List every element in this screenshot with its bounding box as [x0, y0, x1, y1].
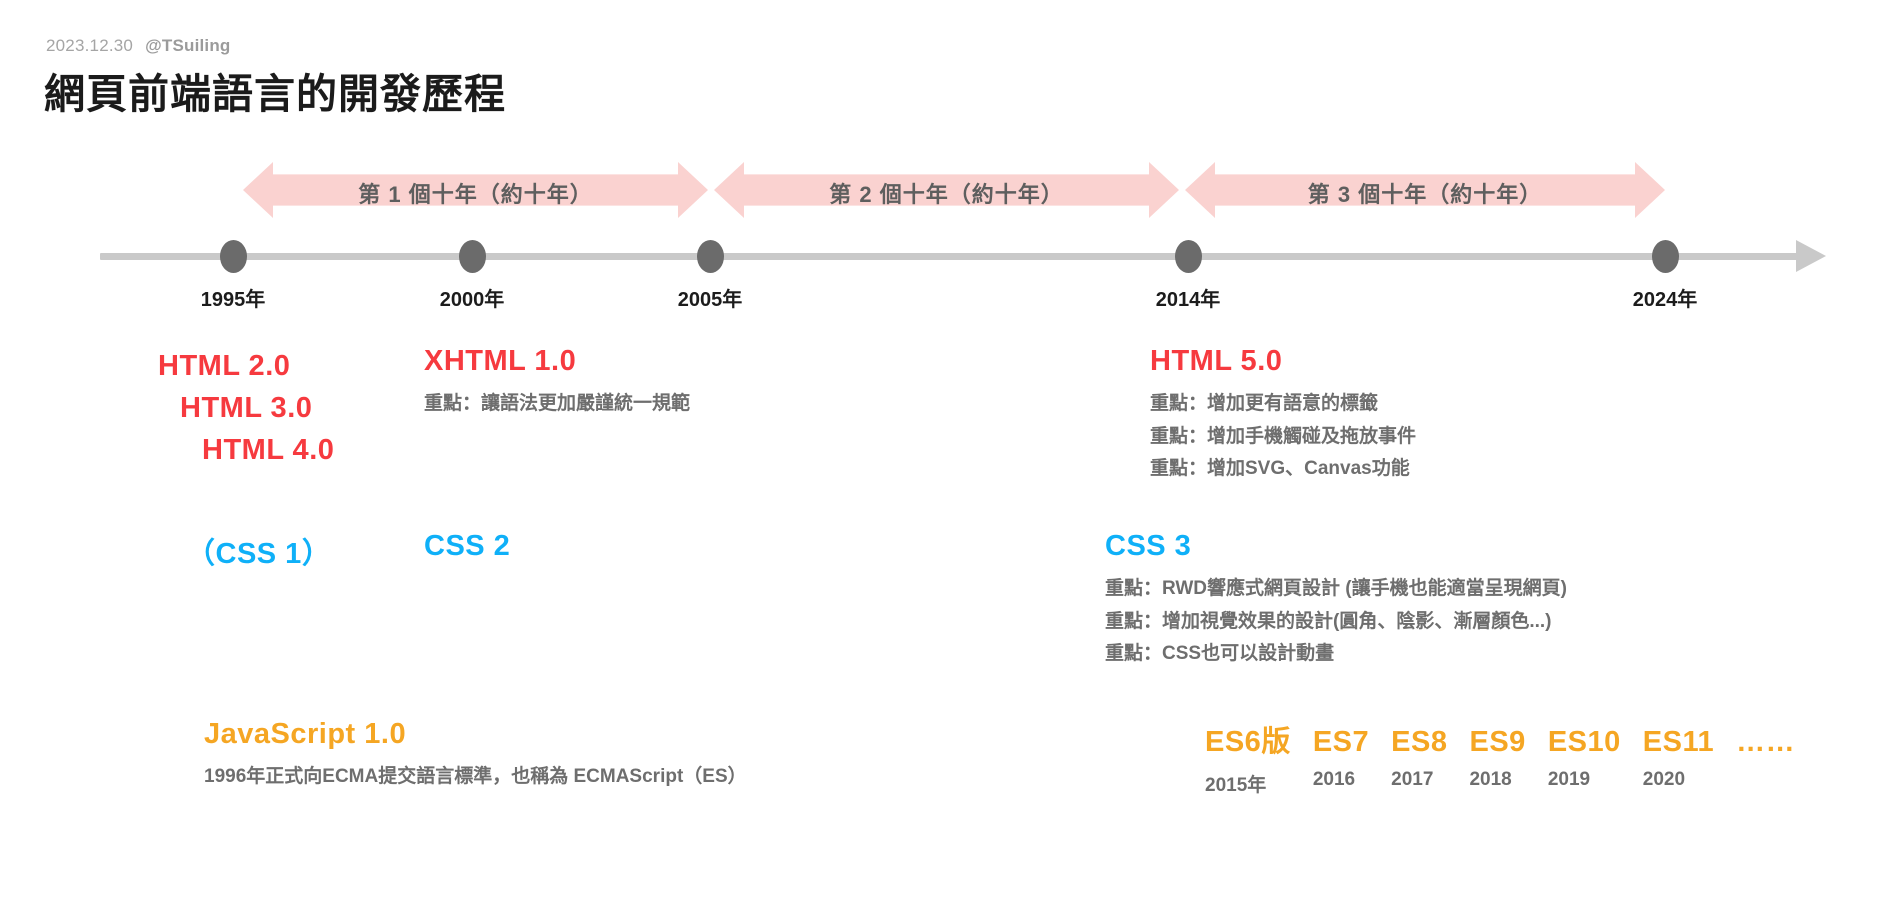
ecmascript-version-name: ES6版	[1205, 718, 1291, 760]
author-handle: @TSuiling	[145, 36, 230, 55]
ecmascript-version-name: ES11	[1643, 726, 1714, 759]
javascript-note-1: 1996年正式向ECMA提交語言標準，也稱為 ECMAScript（ES）	[204, 761, 747, 794]
timeline-label-2014: 2014年	[1156, 283, 1221, 312]
javascript-title: JavaScript 1.0	[204, 718, 747, 751]
timeline-node-2005	[697, 240, 724, 273]
ecmascript-version-name: ES7	[1313, 726, 1369, 759]
timeline-node-2024	[1652, 240, 1679, 273]
decade-arrow-1: 第 1 個十年（約十年）	[243, 162, 708, 218]
css3-note-1: 重點：RWD響應式網頁設計 (讓手機也能適當呈現網頁)	[1105, 573, 1567, 606]
ecmascript-item: ES112020	[1643, 726, 1714, 791]
css2-title: CSS 2	[424, 530, 510, 563]
ecmascript-version-year: 2017	[1391, 769, 1447, 791]
publish-date: 2023.12.30	[46, 36, 133, 55]
timeline-arrow-icon	[1796, 240, 1826, 272]
html5-note-2: 重點：增加手機觸碰及拖放事件	[1150, 421, 1416, 454]
decade-arrow-group: 第 1 個十年（約十年） 第 2 個十年（約十年） 第 3 個十年（約十年）	[0, 162, 1900, 218]
html5-title: HTML 5.0	[1150, 345, 1416, 378]
css3-note-2: 重點：增加視覺效果的設計(圓角、陰影、漸層顏色...)	[1105, 606, 1567, 639]
javascript-block: JavaScript 1.0 1996年正式向ECMA提交語言標準，也稱為 EC…	[204, 718, 747, 794]
decade-arrow-3: 第 3 個十年（約十年）	[1185, 162, 1665, 218]
css3-block: CSS 3 重點：RWD響應式網頁設計 (讓手機也能適當呈現網頁) 重點：增加視…	[1105, 530, 1567, 671]
ecmascript-block: ES6版2015年ES72016ES82017ES92018ES102019ES…	[1205, 718, 1817, 797]
html-version-1: HTML 2.0	[158, 345, 334, 387]
ecmascript-version-year: 2019	[1548, 769, 1621, 791]
decade-arrow-1-label: 第 1 個十年（約十年）	[358, 171, 592, 209]
ecmascript-item: ES72016	[1313, 726, 1369, 791]
ecmascript-version-name: ES9	[1469, 726, 1525, 759]
css1-title: （CSS 1）	[186, 530, 331, 572]
ecmascript-version-year: 2020	[1643, 769, 1714, 791]
timeline-label-2005: 2005年	[678, 283, 743, 312]
ecmascript-version-year: 2015年	[1205, 770, 1291, 797]
html5-block: HTML 5.0 重點：增加更有語意的標籤 重點：增加手機觸碰及拖放事件 重點：…	[1150, 345, 1416, 486]
css2-block: CSS 2	[424, 530, 510, 573]
timeline-label-1995: 1995年	[201, 283, 266, 312]
decade-arrow-2-label: 第 2 個十年（約十年）	[829, 171, 1063, 209]
decade-arrow-3-label: 第 3 個十年（約十年）	[1308, 171, 1542, 209]
ecmascript-version-row: ES6版2015年ES72016ES82017ES92018ES102019ES…	[1205, 718, 1817, 797]
timeline-label-2000: 2000年	[440, 283, 505, 312]
infographic-canvas: 2023.12.30@TSuiling 網頁前端語言的開發歷程 第 1 個十年（…	[0, 0, 1900, 900]
ecmascript-version-name: ……	[1736, 726, 1795, 759]
timeline-node-2014	[1175, 240, 1202, 273]
ecmascript-version-name: ES8	[1391, 726, 1447, 759]
page-title: 網頁前端語言的開發歷程	[44, 60, 506, 120]
timeline-node-1995	[220, 240, 247, 273]
ecmascript-version-year: 2018	[1469, 769, 1525, 791]
ecmascript-item: ……	[1736, 726, 1795, 769]
html5-note-3: 重點：增加SVG、Canvas功能	[1150, 453, 1416, 486]
css1-block: （CSS 1）	[186, 530, 331, 582]
ecmascript-version-year: 2016	[1313, 769, 1369, 791]
timeline-label-2024: 2024年	[1633, 283, 1698, 312]
xhtml-note-1: 重點：讓語法更加嚴謹統一規範	[424, 388, 690, 421]
ecmascript-item: ES6版2015年	[1205, 718, 1291, 797]
xhtml-block: XHTML 1.0 重點：讓語法更加嚴謹統一規範	[424, 345, 690, 421]
byline: 2023.12.30@TSuiling	[46, 36, 231, 56]
html5-note-1: 重點：增加更有語意的標籤	[1150, 388, 1416, 421]
ecmascript-version-name: ES10	[1548, 726, 1621, 759]
decade-arrow-2: 第 2 個十年（約十年）	[714, 162, 1179, 218]
ecmascript-item: ES82017	[1391, 726, 1447, 791]
ecmascript-item: ES92018	[1469, 726, 1525, 791]
xhtml-title: XHTML 1.0	[424, 345, 690, 378]
css3-title: CSS 3	[1105, 530, 1567, 563]
html-version-3: HTML 4.0	[202, 429, 334, 471]
timeline-node-2000	[459, 240, 486, 273]
html-version-2: HTML 3.0	[180, 387, 334, 429]
html-early-block: HTML 2.0 HTML 3.0 HTML 4.0	[158, 345, 334, 471]
ecmascript-item: ES102019	[1548, 726, 1621, 791]
timeline-axis	[100, 253, 1800, 260]
css3-note-3: 重點：CSS也可以設計動畫	[1105, 638, 1567, 671]
